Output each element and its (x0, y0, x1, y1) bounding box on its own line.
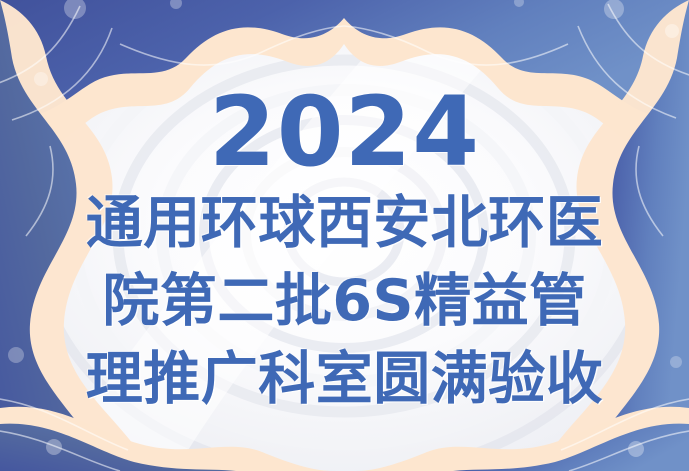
poster-canvas: 2024 通用环球西安北环医 院第二批6S精益管 理推广科室圆满验收 (0, 0, 689, 471)
decorative-background (0, 0, 689, 471)
